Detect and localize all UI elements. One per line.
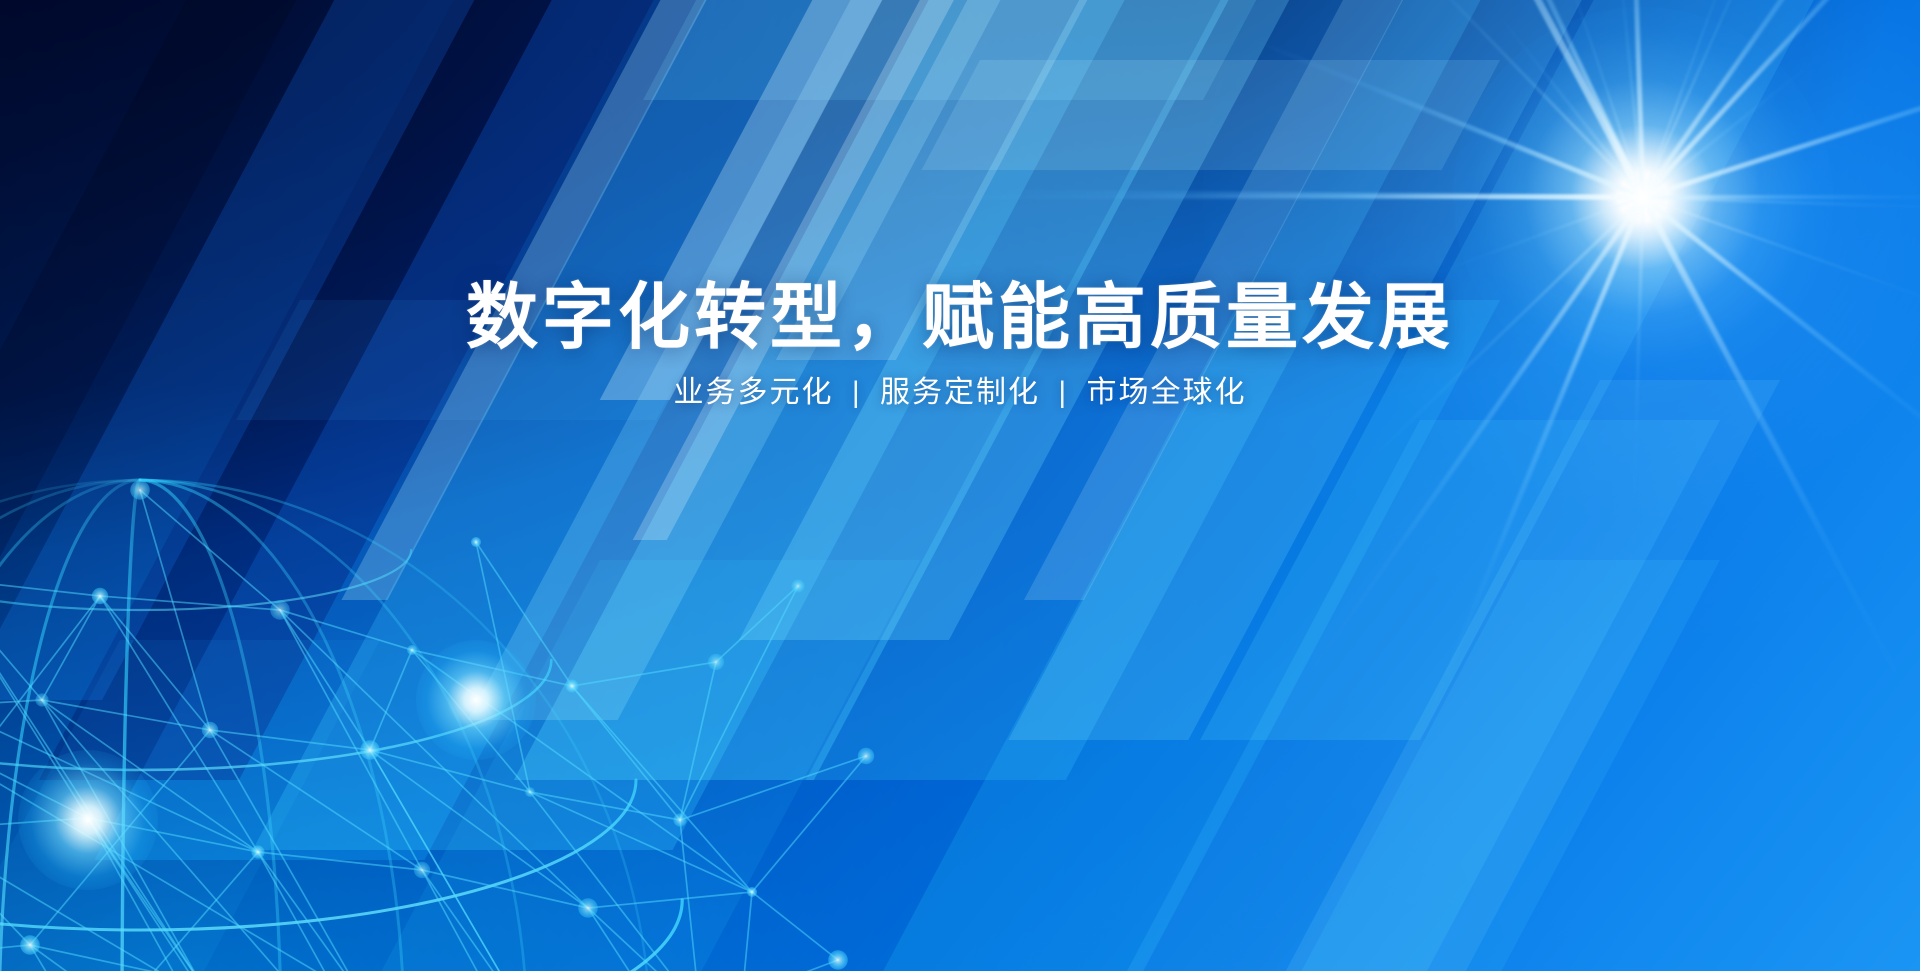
network-node (251, 845, 264, 858)
network-node (270, 600, 290, 620)
network-node (407, 645, 417, 655)
network-node (673, 813, 686, 826)
network-link (0, 710, 364, 971)
page-title: 数字化转型，赋能高质量发展 (0, 282, 1920, 354)
network-node (130, 480, 150, 500)
network-node (92, 588, 108, 604)
subtitle-part-2: 服务定制化 (880, 376, 1040, 409)
network-link (0, 830, 406, 971)
banner-text-block: 数字化转型，赋能高质量发展 业务多元化 | 服务定制化 | 市场全球化 (0, 282, 1920, 408)
globe-network-graphic (0, 400, 930, 971)
network-node (858, 748, 874, 764)
network-node (360, 740, 380, 760)
network-link (370, 750, 588, 908)
network-node (708, 654, 724, 670)
network-link (588, 908, 730, 971)
network-node (414, 862, 430, 878)
network-node (35, 693, 48, 706)
network-link (74, 852, 258, 971)
network-link (210, 730, 370, 750)
starburst-ray (1643, 195, 1920, 199)
network-link (572, 686, 680, 820)
network-node (791, 579, 804, 592)
network-node (747, 887, 757, 897)
network-link (680, 820, 700, 971)
network-link (0, 578, 200, 971)
globe-latitude-arc (0, 660, 551, 770)
network-link (100, 596, 210, 730)
network-link (0, 578, 100, 596)
network-link (700, 960, 838, 971)
subtitle-separator-1: | (844, 376, 870, 409)
network-link (680, 662, 716, 820)
network-link (370, 650, 412, 750)
network-link (530, 792, 680, 820)
subtitle-separator-2: | (1050, 376, 1076, 409)
subtitle-part-3: 市场全球化 (1086, 376, 1246, 409)
network-link (370, 750, 530, 792)
globe-latitude-arc (0, 780, 636, 930)
network-node (525, 787, 535, 797)
globe-latitude-arc (0, 550, 411, 610)
network-link (730, 892, 752, 971)
starburst-ray (883, 195, 1643, 199)
network-link (572, 662, 716, 686)
banner-subtitle: 业务多元化 | 服务定制化 | 市场全球化 (0, 378, 1920, 408)
network-node (202, 722, 218, 738)
network-node (20, 935, 40, 955)
network-link (716, 586, 798, 662)
network-link (422, 870, 530, 971)
network-link (280, 610, 422, 870)
network-node (565, 679, 578, 692)
network-node (471, 537, 481, 547)
network-link (476, 542, 572, 686)
network-link (280, 610, 370, 750)
network-node (578, 898, 598, 918)
network-link (752, 892, 838, 960)
network-link (412, 650, 752, 892)
network-link (572, 686, 752, 892)
hero-banner: 数字化转型，赋能高质量发展 业务多元化 | 服务定制化 | 市场全球化 (0, 0, 1920, 971)
network-node (83, 813, 93, 823)
network-link (0, 578, 42, 700)
subtitle-part-1: 业务多元化 (674, 376, 834, 409)
network-node (828, 950, 848, 970)
